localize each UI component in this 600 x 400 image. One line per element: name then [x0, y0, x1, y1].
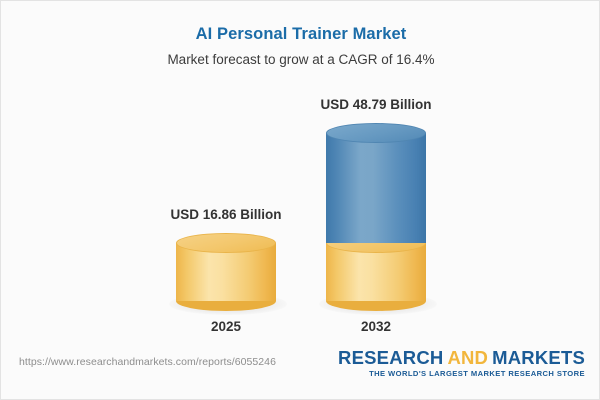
research-and-markets-logo[interactable]: RESEARCHANDMARKETS THE WORLD'S LARGEST M…	[338, 348, 585, 378]
bar-2032[interactable]	[326, 123, 426, 311]
bar-2025-top-cap	[176, 233, 276, 253]
bar-category-label-2032: 2032	[266, 319, 486, 334]
logo-tagline: THE WORLD'S LARGEST MARKET RESEARCH STOR…	[338, 369, 585, 378]
footer: https://www.researchandmarkets.com/repor…	[1, 344, 600, 399]
logo-word-research: RESEARCH	[338, 347, 443, 368]
bar-2032-blue-top-cap	[326, 123, 426, 143]
chart-canvas: AI Personal Trainer Market Market foreca…	[0, 0, 600, 400]
source-url-link[interactable]: https://www.researchandmarkets.com/repor…	[19, 356, 276, 368]
bar-value-label-2025: USD 16.86 Billion	[116, 207, 336, 222]
plot-area: USD 16.86 Billion 2025 USD 48.79 Billion…	[1, 1, 600, 346]
logo-word-markets: MARKETS	[492, 347, 585, 368]
bar-2032-blue-segment	[326, 133, 426, 243]
bar-value-label-2032: USD 48.79 Billion	[266, 97, 486, 112]
bar-2025[interactable]	[176, 233, 276, 311]
logo-wordmark: RESEARCHANDMARKETS	[338, 348, 585, 367]
logo-word-and: AND	[447, 347, 488, 368]
